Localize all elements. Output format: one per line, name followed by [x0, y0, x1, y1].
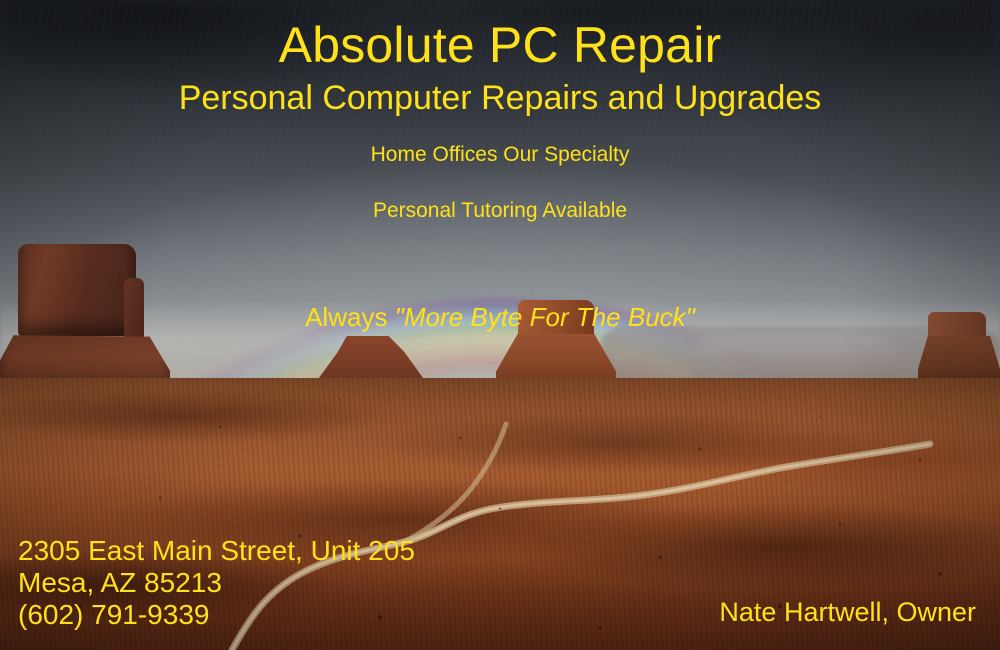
slogan-quoted-phrase: "More Byte For The Buck" — [395, 302, 695, 332]
slogan-prefix: Always — [305, 302, 395, 332]
business-card-image: Absolute PC Repair Personal Computer Rep… — [0, 0, 1000, 650]
address-street: 2305 East Main Street, Unit 205 — [18, 536, 415, 566]
tagline-home-offices: Home Offices Our Specialty — [0, 144, 1000, 167]
phone-number: (602) 791-9339 — [18, 600, 415, 630]
business-name-heading: Absolute PC Repair — [0, 18, 1000, 72]
text-overlay: Absolute PC Repair Personal Computer Rep… — [0, 0, 1000, 650]
tagline-personal-tutoring: Personal Tutoring Available — [0, 200, 1000, 223]
contact-address-block: 2305 East Main Street, Unit 205 Mesa, AZ… — [18, 536, 415, 633]
business-subtitle: Personal Computer Repairs and Upgrades — [0, 80, 1000, 117]
company-slogan: Always "More Byte For The Buck" — [0, 303, 1000, 331]
owner-credit: Nate Hartwell, Owner — [719, 598, 976, 627]
address-city-state-zip: Mesa, AZ 85213 — [18, 568, 415, 598]
